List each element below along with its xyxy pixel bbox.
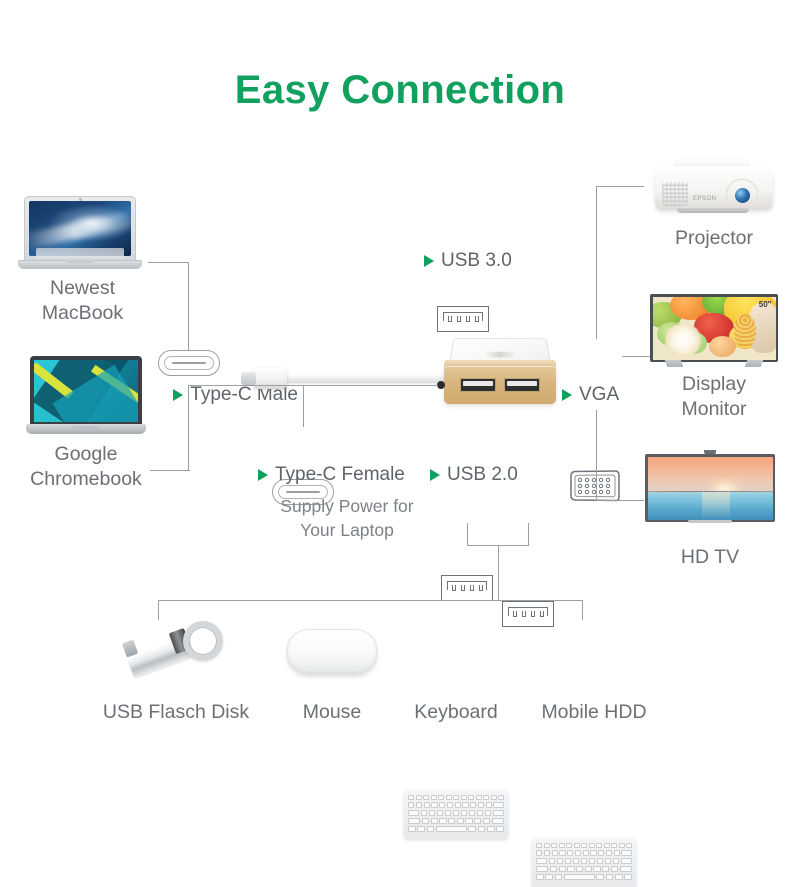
projector-image: EPSON — [655, 158, 773, 220]
vga-connector-icon — [568, 469, 622, 503]
line-projector-h — [596, 186, 644, 187]
line-hdtv-h — [596, 500, 644, 501]
usb-flash-disk-image — [125, 615, 225, 677]
usb-c-plug-tip — [241, 372, 256, 385]
vga-label-row: VGA — [562, 384, 619, 406]
line-chromebook-h — [150, 470, 190, 471]
usb20-port-icon-2 — [502, 601, 554, 627]
tv-screen — [648, 457, 773, 520]
page-title: Easy Connection — [0, 68, 800, 113]
tv-frame — [645, 454, 775, 522]
projector-lens — [727, 180, 757, 210]
mobile-hdd-label: Mobile HDD — [524, 700, 664, 725]
chromebook-label: Google Chromebook — [0, 442, 172, 492]
macbook-label: Newest MacBook — [0, 276, 165, 326]
type-c-male-port-icon — [158, 350, 220, 376]
projector-vent — [662, 182, 688, 206]
line-usb20-p2-drop — [528, 523, 529, 545]
mobile-hdd-body — [532, 839, 636, 887]
vga-label: VGA — [579, 384, 619, 405]
macbook-wallpaper-streak — [29, 209, 131, 250]
line-vga-down — [596, 410, 597, 500]
macbook-keyboard-strip — [36, 248, 124, 258]
projector-foot — [677, 208, 749, 213]
line-monitor-h — [622, 356, 650, 357]
usb20-port-2-contacts — [508, 607, 548, 616]
display-monitor-label: Display Monitor — [648, 372, 780, 422]
keyboard-body — [404, 791, 508, 839]
bullet-triangle-icon — [258, 469, 268, 481]
tv-stand — [645, 520, 775, 528]
projector-body: EPSON — [655, 166, 773, 210]
hub-front-face — [444, 366, 556, 404]
monitor-size-badge: 50″ — [759, 300, 772, 309]
hd-tv-image — [645, 450, 775, 528]
usb30-port-icon — [437, 306, 489, 332]
hub-usb-port-1 — [460, 378, 496, 392]
chromebook-base — [26, 424, 146, 434]
type-c-female-label: Type-C Female — [275, 464, 405, 485]
chromebook-trackpad — [73, 426, 99, 430]
mobile-hdd-image — [532, 839, 636, 887]
line-left-upper-v — [188, 262, 189, 350]
bullet-triangle-icon — [430, 469, 440, 481]
keyboard-image — [404, 791, 508, 839]
chromebook-lid — [30, 356, 142, 426]
mouse-image — [287, 629, 377, 675]
tv-reflection — [702, 492, 730, 520]
monitor-legs — [650, 360, 778, 368]
projector-brand-mark: EPSON — [693, 196, 717, 202]
line-typec-female-drop — [303, 385, 304, 427]
usb20-label: USB 2.0 — [447, 464, 518, 485]
line-typec-female-h — [188, 385, 438, 386]
hd-tv-label: HD TV — [645, 545, 775, 570]
keyboard-label: Keyboard — [396, 700, 516, 725]
usb-flash-disk-label: USB Flasch Disk — [90, 700, 262, 725]
type-c-female-note: Supply Power for Your Laptop — [252, 494, 442, 542]
usb20-port-icon-1 — [441, 575, 493, 601]
hub-usb-port-2 — [504, 378, 540, 392]
monitor-flower — [662, 324, 704, 356]
usb30-port-contacts — [443, 312, 483, 321]
usb-c-hub-device — [440, 330, 558, 406]
chromebook-screen — [34, 360, 138, 422]
macbook-image — [18, 196, 142, 272]
usb30-label: USB 3.0 — [441, 250, 512, 271]
vga-connector-svg — [568, 469, 622, 503]
bullet-triangle-icon — [173, 389, 183, 401]
line-macbook-h — [148, 262, 188, 263]
mouse-label: Mouse — [272, 700, 392, 725]
bullet-triangle-icon — [424, 255, 434, 267]
usb20-port-1-contacts — [447, 581, 487, 590]
usb-c-cable — [275, 374, 445, 383]
bullet-triangle-icon — [562, 389, 572, 401]
line-usb20-p1-drop — [467, 523, 468, 545]
line-bottom-rail — [158, 600, 582, 601]
line-usb20-main-drop — [498, 545, 499, 600]
monitor-frame: 50″ — [650, 294, 778, 362]
usb30-label-row: USB 3.0 — [424, 250, 512, 272]
usb20-label-row: USB 2.0 — [430, 464, 518, 486]
type-c-female-label-row: Type-C Female — [258, 464, 405, 486]
projector-lens-iris — [735, 188, 750, 203]
line-rail-drop-hdd — [582, 600, 583, 620]
line-typec-female-v — [188, 385, 189, 428]
macbook-base — [18, 260, 142, 269]
macbook-lid — [24, 196, 136, 262]
monitor-screen: 50″ — [653, 297, 776, 360]
flash-disk-keyring — [183, 621, 223, 661]
projector-label: Projector — [648, 226, 780, 251]
macbook-notch — [67, 260, 93, 263]
hub-power-port-dot — [437, 381, 445, 389]
line-vga-up — [596, 186, 597, 339]
display-monitor-image: 50″ — [650, 294, 778, 368]
easy-connection-diagram: Easy Connection Newest MacBook Google Ch… — [0, 0, 800, 800]
